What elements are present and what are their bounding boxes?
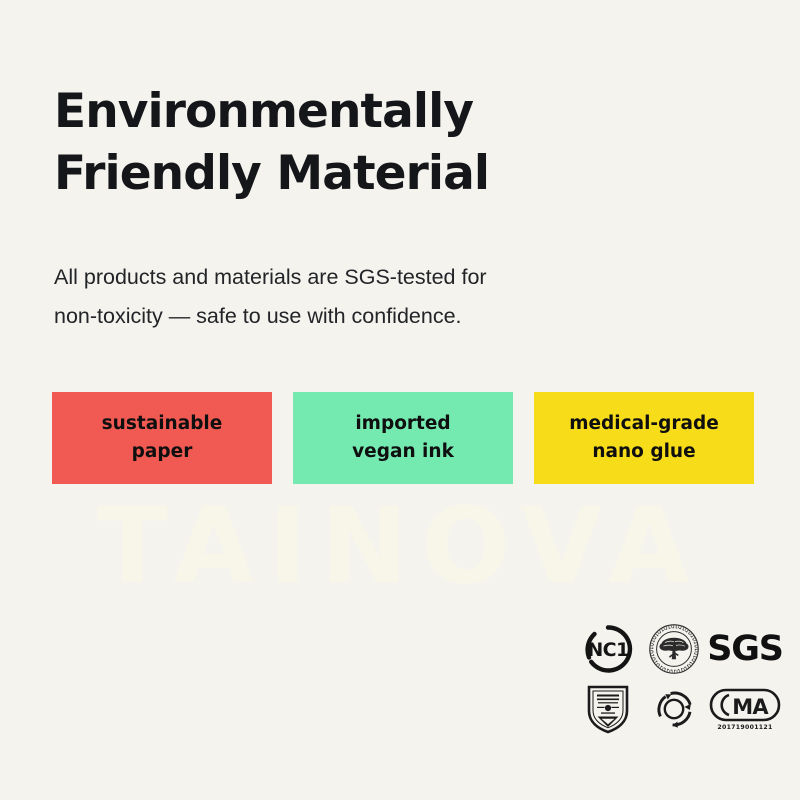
cma-label: MA: [732, 695, 769, 719]
page-title-line-1: Environmentally: [54, 81, 694, 142]
material-chip-line-1: sustainable: [102, 410, 223, 438]
page-title-line-2: Friendly Material: [54, 143, 694, 204]
sgs-label: SGS: [707, 629, 783, 669]
material-chip-line-2: vegan ink: [352, 438, 454, 466]
material-chip-line-2: paper: [132, 438, 193, 466]
poster-canvas: TAINOVA Environmentally Friendly Materia…: [0, 0, 800, 800]
material-chip-imported-vegan-ink: imported vegan ink: [293, 392, 513, 484]
material-chip-line-1: medical-grade: [569, 410, 719, 438]
recycle-icon: [650, 685, 698, 733]
material-chip-line-2: nano glue: [592, 438, 695, 466]
brand-watermark: TAINOVA: [0, 486, 800, 606]
nc1-icon: NC1: [582, 623, 634, 675]
nc1-label: NC1: [587, 639, 628, 661]
material-chip-medical-grade-nano-glue: medical-grade nano glue: [534, 392, 754, 484]
page-title: Environmentally Friendly Material: [54, 81, 694, 203]
material-chip-sustainable-paper: sustainable paper: [52, 392, 272, 484]
cma-icon: MA 201719001121: [709, 688, 781, 731]
shield-icon: [584, 683, 632, 735]
page-subtitle: All products and materials are SGS-teste…: [54, 258, 654, 336]
sgs-icon: SGS: [707, 632, 783, 667]
page-subtitle-line-1: All products and materials are SGS-teste…: [54, 258, 654, 297]
page-subtitle-line-2: non-toxicity — safe to use with confiden…: [54, 297, 654, 336]
certification-badge-group: NC1: [575, 618, 783, 738]
material-chip-group: sustainable paper imported vegan ink med…: [52, 392, 754, 484]
material-chip-line-1: imported: [355, 410, 450, 438]
forest-tree-seal-icon: [647, 622, 701, 676]
cma-certificate-code: 201719001121: [717, 724, 772, 731]
